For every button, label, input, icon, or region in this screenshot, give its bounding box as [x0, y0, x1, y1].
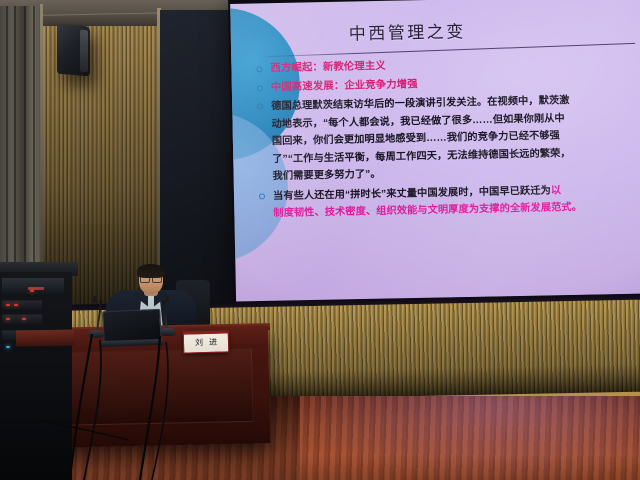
bullet-marker-icon [257, 103, 263, 109]
bullet-4-highlight-tail: 以 [551, 185, 562, 196]
floor-projector-glow [300, 396, 640, 480]
bullet-2-line-1: 中国高速发展：企业竞争力增强 [271, 79, 418, 93]
bullet-1-line-1: 西方崛起：新教伦理主义 [270, 61, 386, 74]
bullet-4-line-1-text: 当有些人还在用“拼时长”来丈量中国发展时，中国早已跃迁为 [273, 185, 551, 202]
bullet-marker-icon [259, 193, 265, 199]
slide-bullet-3: 德国总理默茨结束访华后的一段演讲引发关注。在视频中，默茨激 动地表示，“每个人都… [256, 91, 640, 186]
projection-screen: 中西管理之变 西方崛起：新教伦理主义 中国高速发展：企业竞争力增强 德国总理默茨… [228, 0, 640, 312]
presentation-slide: 中西管理之变 西方崛起：新教伦理主义 中国高速发展：企业竞争力增强 德国总理默茨… [230, 0, 640, 302]
slide-title: 中西管理之变 [348, 17, 465, 44]
status-led-red [30, 290, 34, 292]
glasses-icon [140, 275, 162, 281]
bullet-marker-icon [257, 85, 263, 91]
floor-cables [0, 300, 320, 480]
slide-bullet-4: 当有些人还在用“拼时长”来丈量中国发展时，中国早已跃迁为以 制度韧性、技术密度、… [258, 180, 640, 223]
slide-bullet-list: 西方崛起：新教伦理主义 中国高速发展：企业竞争力增强 德国总理默茨结束访华后的一… [255, 54, 640, 225]
lecture-hall-photo: 中西管理之变 西方崛起：新教伦理主义 中国高速发展：企业竞争力增强 德国总理默茨… [0, 0, 640, 480]
wall-speaker-icon [57, 24, 90, 77]
bullet-marker-icon [256, 66, 262, 72]
